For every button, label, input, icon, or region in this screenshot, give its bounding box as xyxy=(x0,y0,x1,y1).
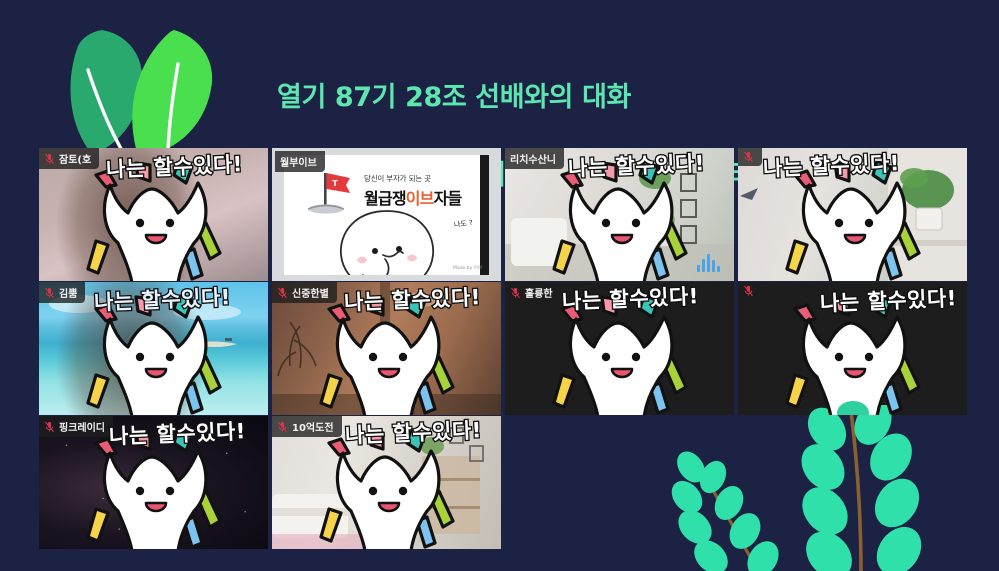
participant-tile-10[interactable]: 10억도전 나는 할수있다! xyxy=(272,416,501,549)
participant-name-badge: 10억도전 xyxy=(272,416,342,437)
mic-muted-icon xyxy=(743,285,754,297)
participant-tile-2[interactable]: T 당신이 부자가 되는 곳 월급쟁이브자들 xyxy=(272,148,501,281)
slide-blob-illustration xyxy=(333,209,441,275)
mic-muted-icon xyxy=(44,153,55,165)
sticker-text: 나는 할수있다! xyxy=(105,148,243,184)
sticker-text: 나는 할수있다! xyxy=(343,282,481,317)
mic-muted-icon xyxy=(277,287,288,299)
slide-title-part-a: 월급쟁 xyxy=(364,189,406,208)
participant-name: 10억도전 xyxy=(292,419,334,434)
title-line-1: 열기 87기 28조 선배와의 대화 xyxy=(277,80,858,116)
video-grid: 잠토(호 나는 할수있다! xyxy=(39,148,969,553)
slide-title-part-c: 자들 xyxy=(434,189,462,208)
participant-name: 신중한별 xyxy=(292,285,329,300)
participant-tile-4[interactable]: 나는 할수있다! xyxy=(738,148,967,281)
participant-name: 훌륭한 xyxy=(525,285,553,300)
sticker-text: 나는 할수있다! xyxy=(93,282,231,317)
participant-name: 김뿜 xyxy=(59,285,77,300)
participant-name-badge: 리치수산니 xyxy=(505,148,564,169)
slide-sidebar xyxy=(480,155,489,275)
participant-name-badge: 신중한별 xyxy=(272,282,337,303)
empty-grid-slot-11 xyxy=(505,416,734,549)
empty-grid-slot-12 xyxy=(738,416,967,549)
participant-name: 잠토(호 xyxy=(59,151,91,166)
leaf-pair-icon xyxy=(62,18,242,160)
sticker-text: 나는 할수있다! xyxy=(819,282,957,318)
participant-tile-3[interactable]: 리치수산니 나는 할수있다! xyxy=(505,148,734,281)
slide-title: 월급쟁이브자들 xyxy=(364,185,461,209)
audio-level-indicator xyxy=(697,254,720,272)
slide-credit: Made by 이브 xyxy=(453,265,482,271)
mic-muted-icon xyxy=(277,421,288,433)
sticker-text: 나는 할수있다! xyxy=(561,282,699,316)
participant-tile-7[interactable]: 훌륭한 나는 할수있다! xyxy=(505,282,734,415)
mic-muted-icon xyxy=(510,287,521,299)
participant-name: 리치수산니 xyxy=(510,151,556,166)
shared-screen-slide: T 당신이 부자가 되는 곳 월급쟁이브자들 xyxy=(284,155,489,275)
participant-name-badge: 월부이브 xyxy=(275,151,325,172)
participant-name-badge xyxy=(738,282,762,300)
sticker-text: 나는 할수있다! xyxy=(567,148,705,183)
participant-name-badge: 잠토(호 xyxy=(39,148,99,169)
mic-muted-icon xyxy=(44,421,55,433)
svg-text:T: T xyxy=(332,179,338,188)
participant-name-badge: 김뿜 xyxy=(39,282,85,303)
participant-tile-8[interactable]: 나는 할수있다! xyxy=(738,282,967,415)
sticker-text: 나는 할수있다! xyxy=(344,416,482,450)
slide-title-part-b: 이브 xyxy=(406,189,434,208)
slide-subtitle: 당신이 부자가 되는 곳 xyxy=(364,173,461,184)
participant-tile-6[interactable]: 신중한별 나는 할수있다! xyxy=(272,282,501,415)
participant-tile-9[interactable]: 핑크레이디 나는 할수있다! xyxy=(39,416,268,549)
mic-muted-icon xyxy=(44,287,55,299)
participant-name: 월부이브 xyxy=(280,154,317,169)
slide-text-group: 당신이 부자가 되는 곳 월급쟁이브자들 xyxy=(364,169,461,209)
blob-character-icon xyxy=(333,209,441,275)
participant-tile-1[interactable]: 잠토(호 나는 할수있다! xyxy=(39,148,268,281)
slide-scribble-note: 나도 ? xyxy=(454,218,474,231)
leaf-pair-decoration xyxy=(62,18,242,160)
participant-name-badge: 훌륭한 xyxy=(505,282,561,303)
participant-tile-5[interactable]: 김뿜 나는 할수있다! xyxy=(39,282,268,415)
mic-muted-icon xyxy=(743,151,754,163)
participant-name: 핑크레이디 xyxy=(59,419,105,434)
participant-name-badge xyxy=(738,148,762,166)
participant-name-badge: 핑크레이디 xyxy=(39,416,113,437)
sticker-text: 나는 할수있다! xyxy=(108,416,246,451)
sticker-text: 나는 할수있다! xyxy=(762,148,900,183)
